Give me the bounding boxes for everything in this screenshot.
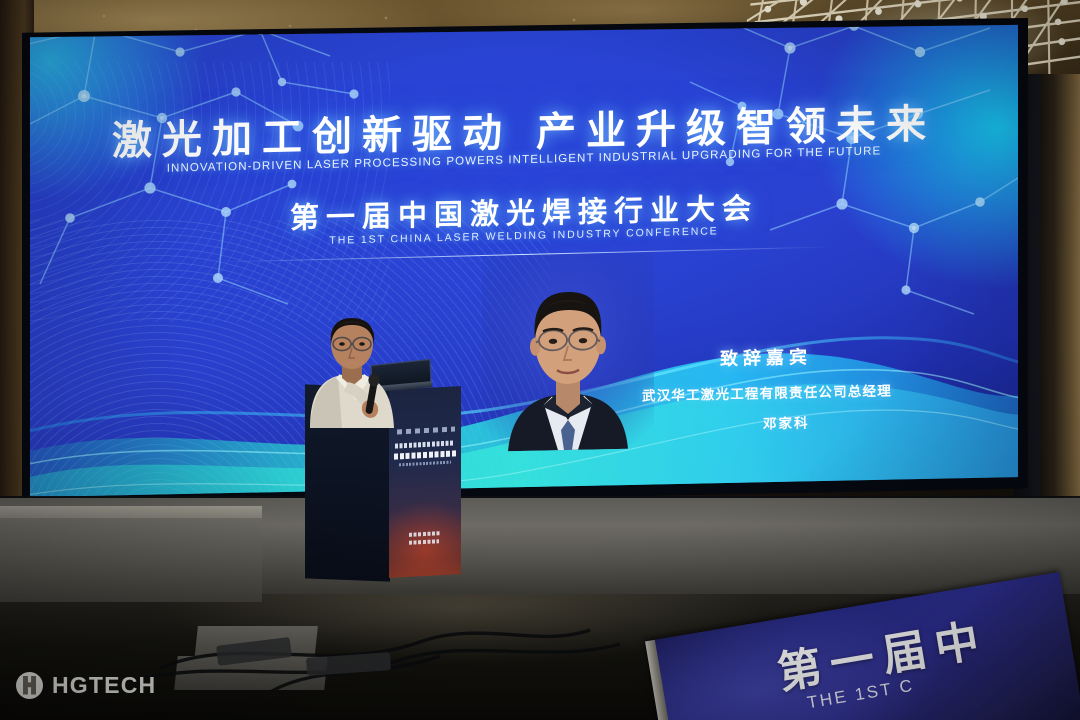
speaker-role-label: 致辞嘉宾 [720, 343, 812, 371]
speaker-portrait-icon [482, 252, 654, 452]
hgtech-logo-icon [16, 672, 43, 699]
wall-column-right [1040, 74, 1080, 544]
led-screen: 激光加工创新驱动 产业升级智领未来 INNOVATION-DRIVEN LASE… [30, 22, 1018, 500]
floor-cables-icon [120, 572, 680, 692]
led-text-layer: 激光加工创新驱动 产业升级智领未来 INNOVATION-DRIVEN LASE… [30, 22, 1018, 500]
speaker-at-podium-icon [296, 318, 416, 428]
conference-photo-scene: 激光加工创新驱动 产业升级智领未来 INNOVATION-DRIVEN LASE… [0, 0, 1080, 720]
watermark-brand: HGTECH [52, 672, 156, 699]
speaker-name: 邓家科 [763, 412, 810, 433]
watermark: HGTECH [16, 670, 156, 700]
speaker-organization: 武汉华工激光工程有限责任公司总经理 [642, 379, 892, 404]
